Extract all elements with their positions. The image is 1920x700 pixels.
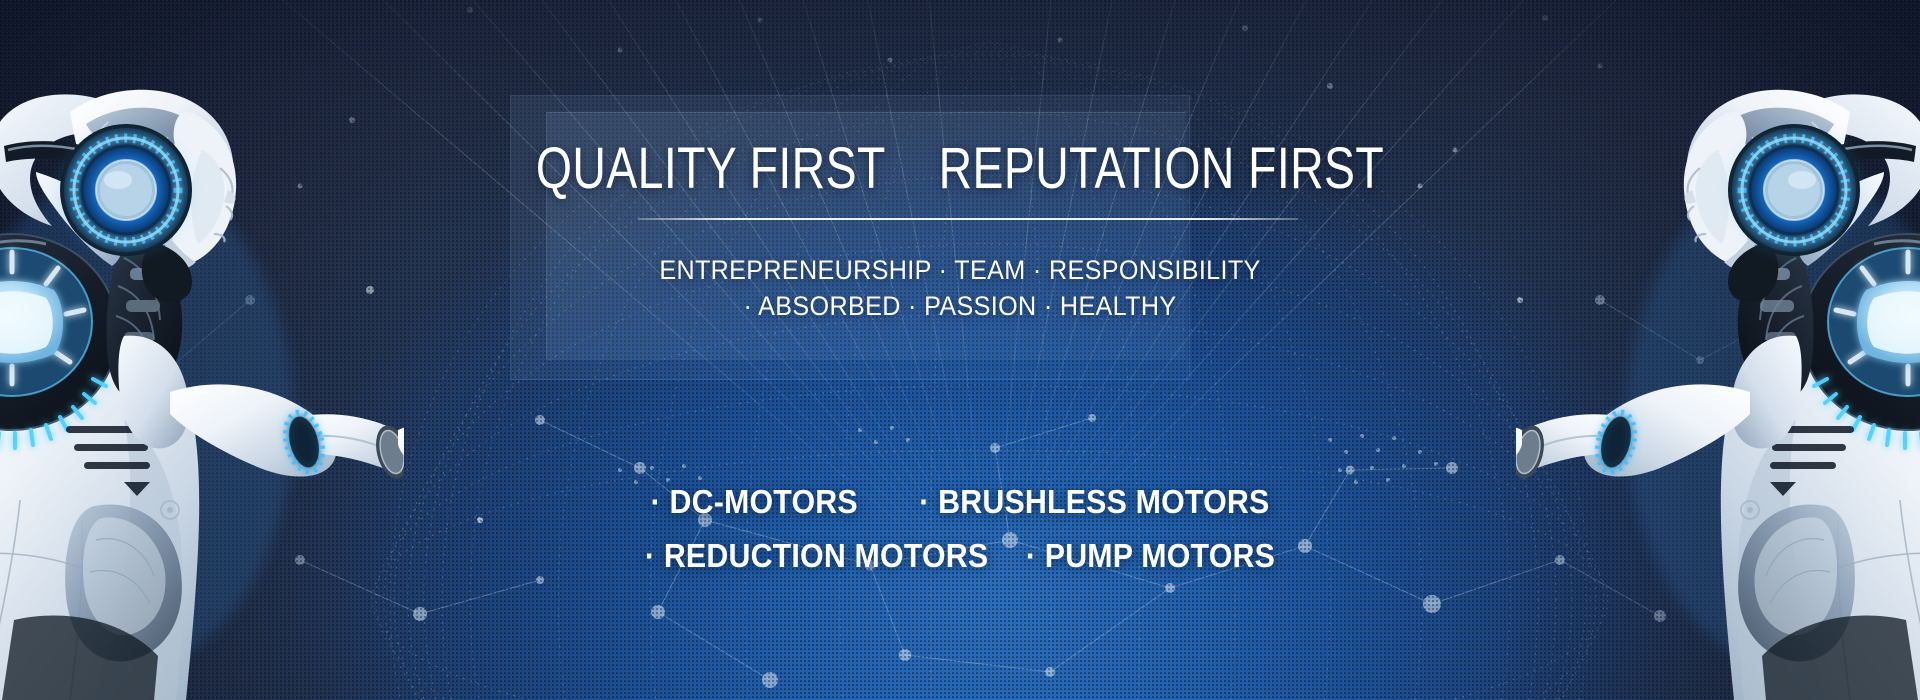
core-values-line-1: ENTREPRENEURSHIP · TEAM · RESPONSIBILITY [659, 255, 1260, 285]
hero-banner: QUALITY FIRST REPUTATION FIRST ENTREPREN… [0, 0, 1920, 700]
product-row-2: · REDUCTION MOTORS · PUMP MOTORS [77, 529, 1843, 583]
product-reduction-motors: · REDUCTION MOTORS [645, 537, 988, 574]
headline-divider [638, 218, 1298, 220]
banner-content: QUALITY FIRST REPUTATION FIRST ENTREPREN… [0, 0, 1920, 700]
core-values-line-2: · ABSORBED · PASSION · HEALTHY [67, 288, 1853, 324]
core-values: ENTREPRENEURSHIP · TEAM · RESPONSIBILITY… [67, 252, 1853, 324]
product-pump-motors: · PUMP MOTORS [1026, 537, 1275, 574]
headline-part-2: REPUTATION FIRST [939, 136, 1384, 201]
headline: QUALITY FIRST REPUTATION FIRST [192, 138, 1728, 200]
product-list: · DC-MOTORS · BRUSHLESS MOTORS · REDUCTI… [77, 475, 1843, 583]
product-dc-motors: · DC-MOTORS [651, 483, 858, 520]
headline-part-1: QUALITY FIRST [536, 136, 885, 201]
product-brushless-motors: · BRUSHLESS MOTORS [919, 483, 1269, 520]
product-row-1: · DC-MOTORS · BRUSHLESS MOTORS [77, 475, 1843, 529]
